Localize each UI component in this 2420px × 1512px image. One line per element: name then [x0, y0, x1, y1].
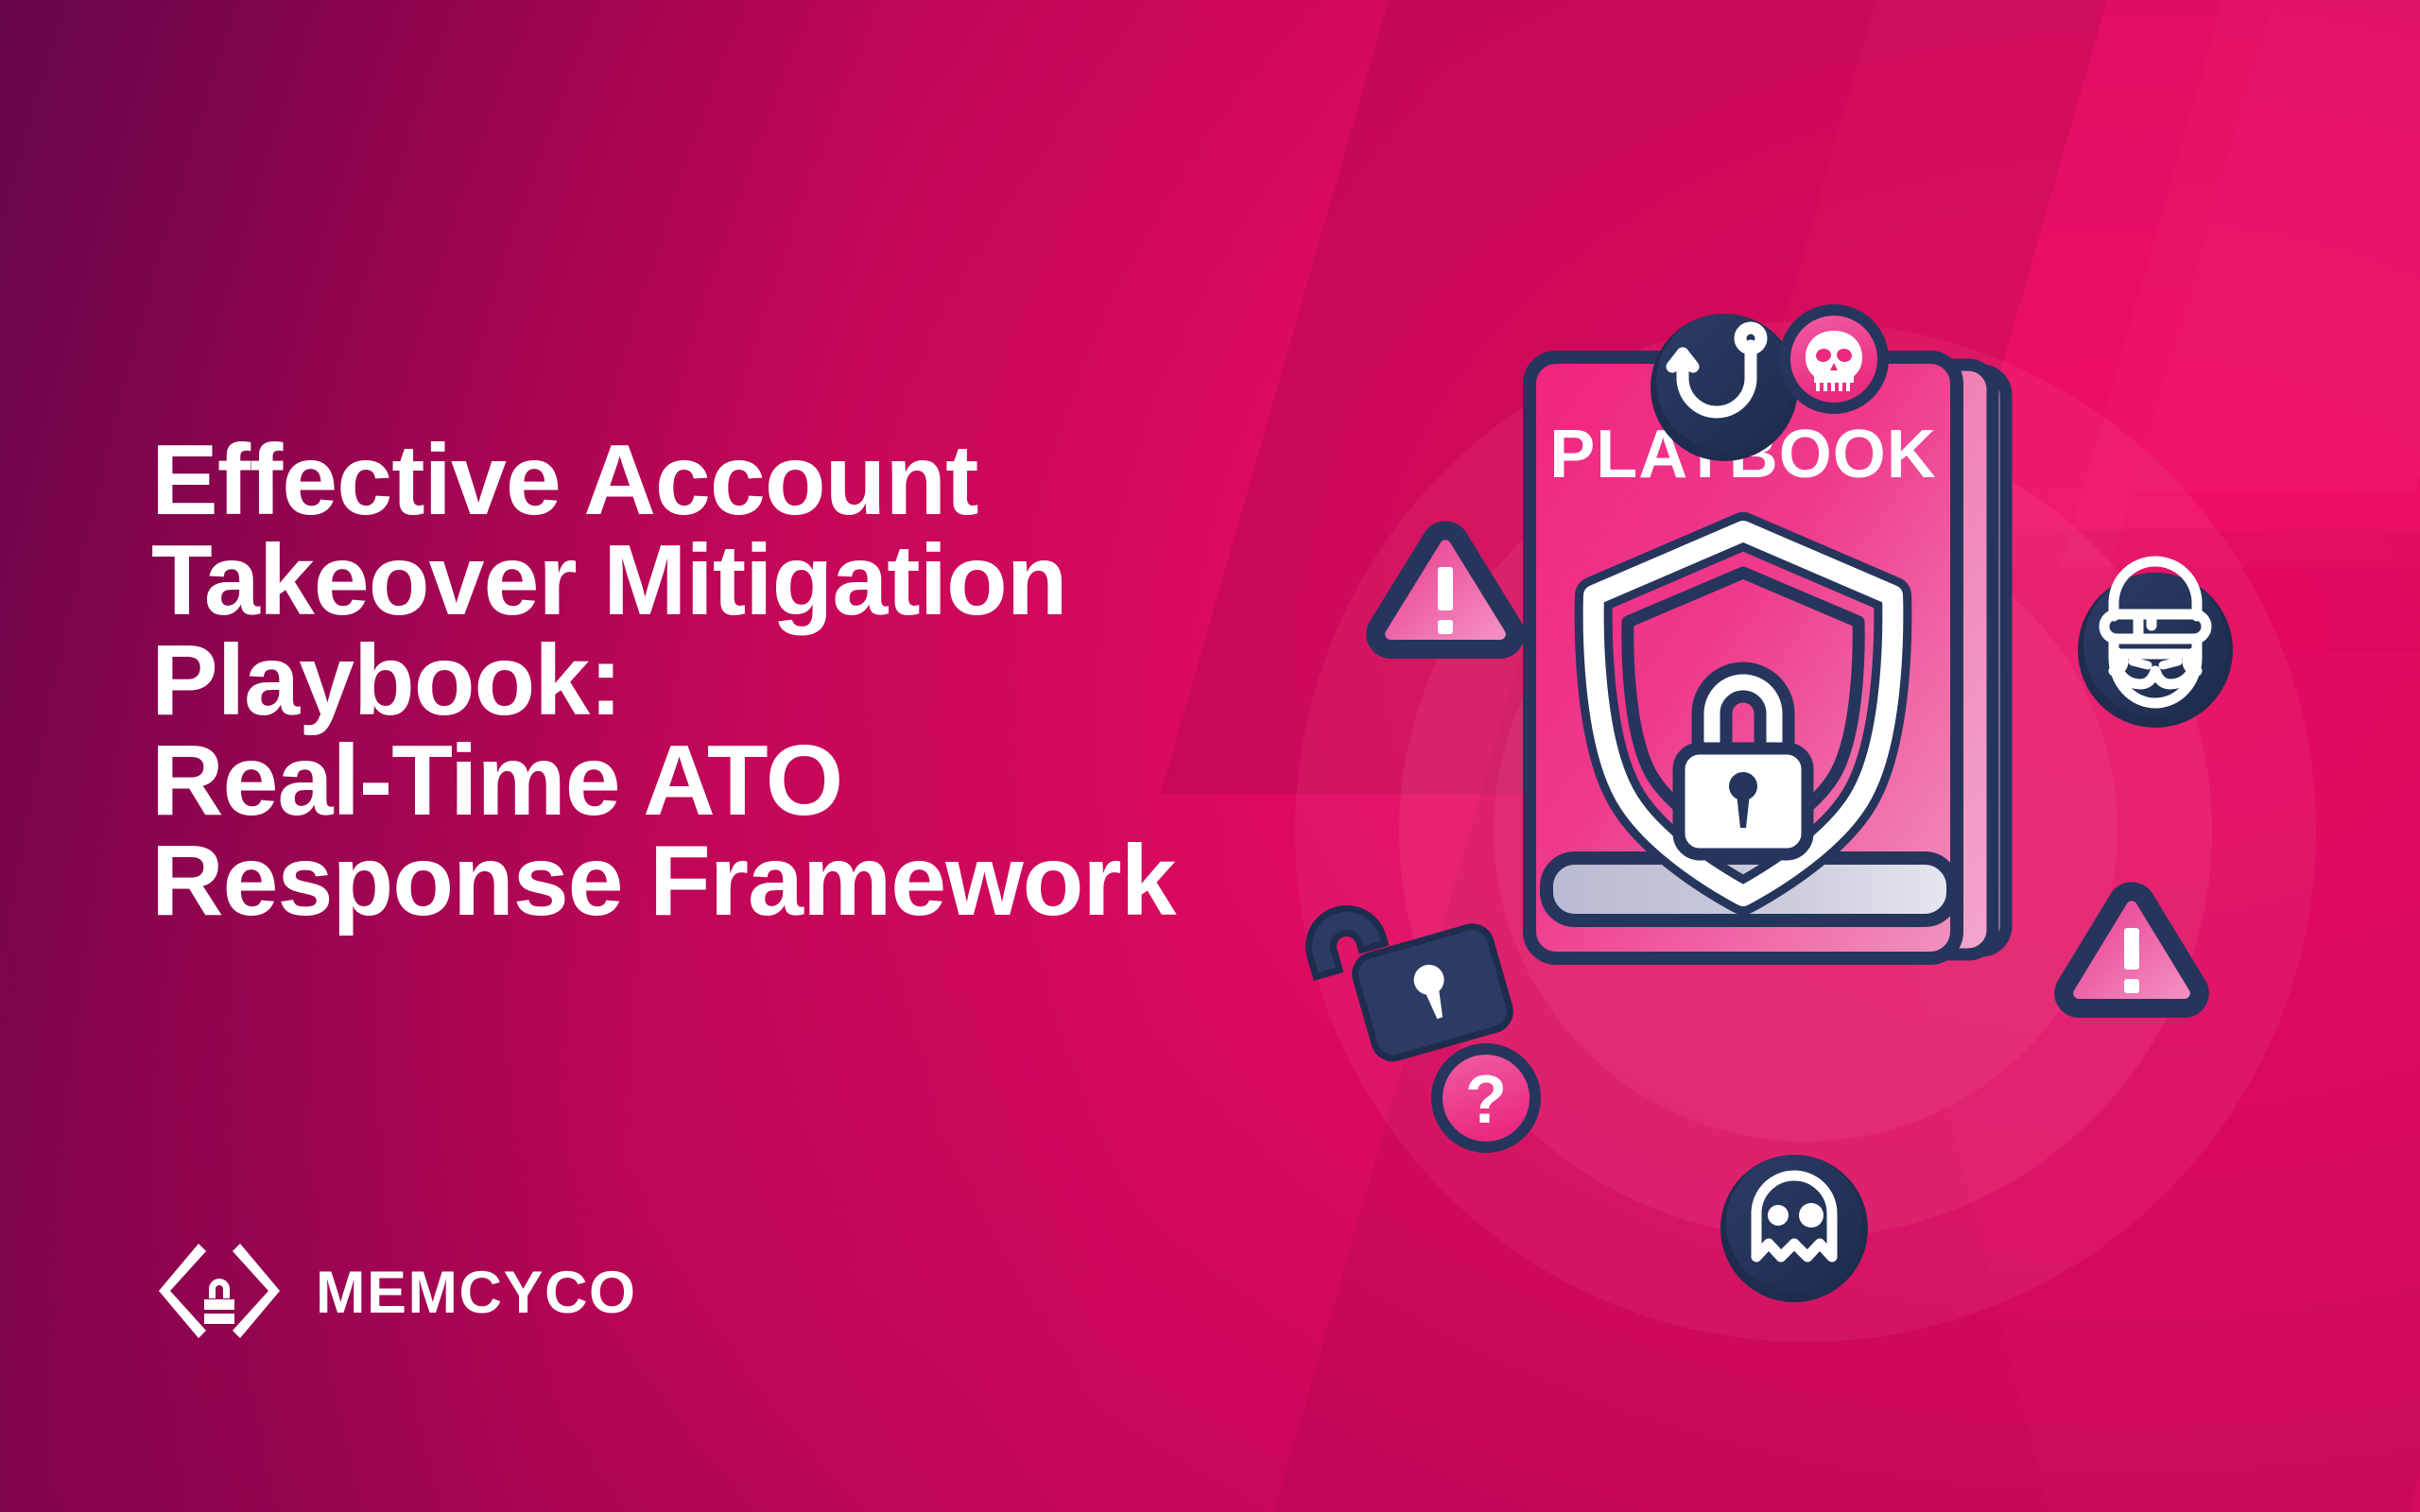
brand-logo[interactable]: MEMCYCO [157, 1240, 637, 1342]
badge-warning-left [1375, 530, 1515, 649]
headline-line-4: Real-Time ATO [151, 730, 1267, 831]
badge-open-padlock [1300, 871, 1514, 1073]
badge-ghost [1720, 1155, 1868, 1302]
badge-hacker-face [2078, 561, 2233, 728]
badge-phishing-hook [1651, 314, 1798, 461]
hero-text-column: Effective Account Takeover Mitigation Pl… [151, 430, 1267, 931]
page-title: Effective Account Takeover Mitigation Pl… [151, 430, 1267, 931]
headline-line-5: Response Framework [151, 831, 1267, 931]
memcyco-bracket-lock-icon [157, 1240, 282, 1342]
badge-warning-right [2064, 891, 2200, 1008]
badge-skull [1779, 304, 1889, 414]
headline-line-3: Playbook: [151, 630, 1267, 730]
headline-line-2: Takeover Mitigation [151, 530, 1267, 630]
skull-icon [1806, 331, 1862, 391]
badge-question-mark: ? [1431, 1043, 1541, 1153]
question-mark-icon: ? [1465, 1062, 1507, 1138]
playbook-illustration: PLAYBOOK [1257, 283, 2373, 1399]
logo-wordmark: MEMCYCO [316, 1263, 637, 1323]
unlocked-padlock-icon [1300, 871, 1514, 1073]
headline-line-1: Effective Account [151, 430, 1267, 530]
